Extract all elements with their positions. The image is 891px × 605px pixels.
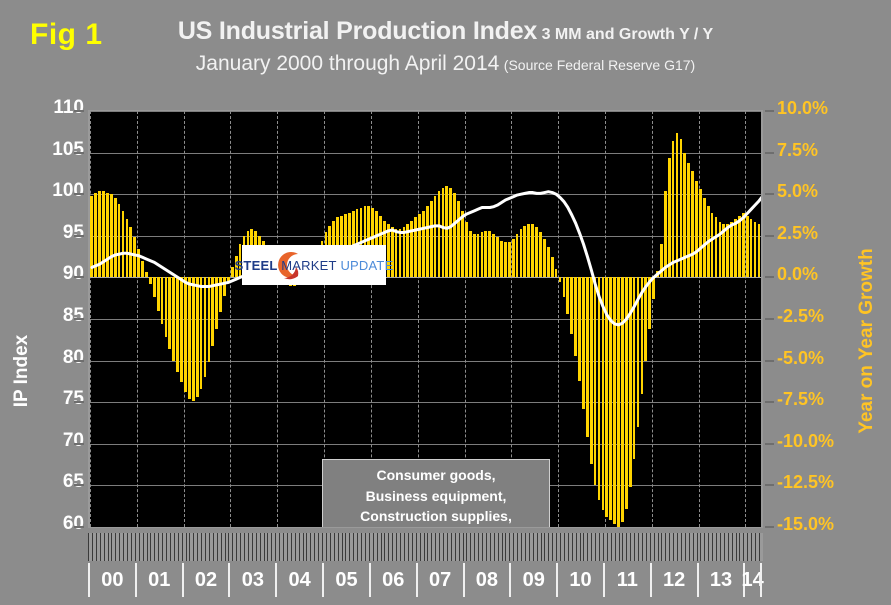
month-tick — [443, 533, 444, 561]
x-axis-month-ticks — [88, 533, 763, 561]
chart-title: US Industrial Production Index 3 MM and … — [0, 17, 891, 46]
month-tick — [150, 533, 151, 561]
annotation-line: Business supplies, — [373, 526, 500, 528]
month-tick — [490, 533, 491, 561]
left-axis-tick — [74, 235, 84, 237]
month-tick — [209, 533, 210, 561]
month-tick — [654, 533, 655, 561]
right-axis-tick-label: 5.0% — [777, 181, 818, 202]
month-tick — [326, 533, 327, 561]
month-tick — [213, 533, 214, 561]
month-tick — [743, 533, 744, 561]
month-tick — [131, 533, 132, 561]
month-tick — [505, 533, 506, 561]
month-tick — [693, 533, 694, 561]
month-tick — [439, 533, 440, 561]
month-tick — [377, 533, 378, 561]
month-tick — [420, 533, 421, 561]
month-tick — [260, 533, 261, 561]
month-tick — [427, 533, 428, 561]
month-tick — [154, 533, 155, 561]
right-axis-tick-label: -15.0% — [777, 514, 834, 535]
year-label-03: 03 — [228, 563, 275, 597]
month-tick — [334, 533, 335, 561]
month-tick — [759, 533, 760, 561]
right-axis-tick-label: -2.5% — [777, 306, 824, 327]
month-tick — [170, 533, 171, 561]
month-tick — [201, 533, 202, 561]
month-tick — [322, 533, 323, 561]
month-tick — [357, 533, 358, 561]
chart-subtitle-source: (Source Federal Reserve G17) — [504, 57, 695, 73]
chart-subtitle: January 2000 through April 2014 (Source … — [0, 52, 891, 76]
month-tick — [303, 533, 304, 561]
month-tick — [630, 533, 631, 561]
month-tick — [451, 533, 452, 561]
bar — [761, 224, 763, 277]
right-axis-tick-label: 7.5% — [777, 140, 818, 161]
month-tick — [466, 533, 467, 561]
month-tick — [225, 533, 226, 561]
month-tick — [236, 533, 237, 561]
month-tick — [474, 533, 475, 561]
logo-part-steel: STEEL — [235, 258, 278, 273]
month-tick — [591, 533, 592, 561]
month-tick — [595, 533, 596, 561]
month-tick — [174, 533, 175, 561]
month-tick — [533, 533, 534, 561]
left-axis-tick-label: 70 — [38, 430, 84, 452]
month-tick — [353, 533, 354, 561]
month-tick — [345, 533, 346, 561]
month-tick — [564, 533, 565, 561]
month-tick — [459, 533, 460, 561]
month-tick — [626, 533, 627, 561]
year-label-11: 11 — [603, 563, 650, 597]
right-axis-tick — [765, 193, 774, 195]
month-tick — [728, 533, 729, 561]
left-axis-tick — [74, 110, 84, 112]
month-tick — [661, 533, 662, 561]
year-label-00: 00 — [88, 563, 135, 597]
month-tick — [486, 533, 487, 561]
month-tick — [275, 533, 276, 561]
month-tick — [552, 533, 553, 561]
month-tick — [650, 533, 651, 561]
month-tick — [228, 533, 229, 561]
month-tick — [587, 533, 588, 561]
month-tick — [435, 533, 436, 561]
month-tick — [193, 533, 194, 561]
left-axis-title: IP Index — [11, 311, 33, 431]
right-axis-tick-label: 2.5% — [777, 223, 818, 244]
plot-area: STEEL MARKET UPDATE Consumer goods,Busin… — [88, 110, 763, 528]
month-tick — [400, 533, 401, 561]
month-tick — [548, 533, 549, 561]
month-tick — [509, 533, 510, 561]
month-tick — [314, 533, 315, 561]
month-tick — [381, 533, 382, 561]
left-axis-tick-label: 65 — [38, 471, 84, 493]
month-tick — [119, 533, 120, 561]
year-label-09: 09 — [509, 563, 556, 597]
month-tick — [318, 533, 319, 561]
month-tick — [365, 533, 366, 561]
year-label-01: 01 — [135, 563, 182, 597]
month-tick — [431, 533, 432, 561]
month-tick — [747, 533, 748, 561]
annotation-box: Consumer goods,Business equipment,Constr… — [322, 459, 550, 528]
month-tick — [396, 533, 397, 561]
month-tick — [502, 533, 503, 561]
month-tick — [724, 533, 725, 561]
month-tick — [704, 533, 705, 561]
month-tick — [330, 533, 331, 561]
year-label-10: 10 — [556, 563, 603, 597]
month-tick — [221, 533, 222, 561]
year-label-04: 04 — [275, 563, 322, 597]
month-tick — [158, 533, 159, 561]
chart-title-sub: 3 MM and Growth Y / Y — [542, 26, 714, 43]
month-tick — [264, 533, 265, 561]
month-tick — [583, 533, 584, 561]
month-tick — [521, 533, 522, 561]
right-axis-title: Year on Year Growth — [856, 226, 878, 456]
chart-header: Fig 1 US Industrial Production Index 3 M… — [0, 0, 891, 92]
month-tick — [186, 533, 187, 561]
month-tick — [463, 533, 464, 561]
month-tick — [373, 533, 374, 561]
month-tick — [108, 533, 109, 561]
month-tick — [712, 533, 713, 561]
month-tick — [279, 533, 280, 561]
month-tick — [482, 533, 483, 561]
left-axis-tick — [74, 526, 84, 528]
right-axis-tick — [765, 276, 774, 278]
month-tick — [342, 533, 343, 561]
left-axis-tick-label: 75 — [38, 388, 84, 410]
left-axis-tick — [74, 276, 84, 278]
month-tick — [115, 533, 116, 561]
month-tick — [295, 533, 296, 561]
month-tick — [424, 533, 425, 561]
month-tick — [634, 533, 635, 561]
month-tick — [541, 533, 542, 561]
month-tick — [751, 533, 752, 561]
logo-part-market: MARKET — [281, 258, 336, 273]
year-label-12: 12 — [650, 563, 697, 597]
chart-subtitle-main: January 2000 through April 2014 — [196, 52, 500, 75]
right-axis-tick-label: -10.0% — [777, 431, 834, 452]
month-tick — [182, 533, 183, 561]
annotation-line: Construction supplies, — [360, 506, 512, 526]
year-label-08: 08 — [463, 563, 510, 597]
left-axis-tick — [74, 443, 84, 445]
left-axis-tick — [74, 484, 84, 486]
month-tick — [271, 533, 272, 561]
right-axis-tick — [765, 443, 774, 445]
month-tick — [700, 533, 701, 561]
right-axis-tick-label: -5.0% — [777, 348, 824, 369]
month-tick — [256, 533, 257, 561]
month-tick — [658, 533, 659, 561]
right-axis-tick — [765, 110, 774, 112]
month-tick — [478, 533, 479, 561]
month-tick — [244, 533, 245, 561]
month-tick — [603, 533, 604, 561]
month-tick — [646, 533, 647, 561]
month-tick — [166, 533, 167, 561]
left-axis-tick-label: 95 — [38, 222, 84, 244]
left-axis-tick-label: 80 — [38, 347, 84, 369]
right-axis-tick-label: 0.0% — [777, 264, 818, 285]
month-tick — [388, 533, 389, 561]
month-tick — [572, 533, 573, 561]
month-tick — [135, 533, 136, 561]
month-tick — [310, 533, 311, 561]
month-tick — [689, 533, 690, 561]
month-tick — [178, 533, 179, 561]
right-axis-tick — [765, 360, 774, 362]
gridline-horizontal — [90, 527, 761, 528]
month-tick — [197, 533, 198, 561]
month-tick — [755, 533, 756, 561]
left-axis-tick-label: 85 — [38, 305, 84, 327]
right-axis-tick — [765, 526, 774, 528]
month-tick — [517, 533, 518, 561]
right-axis-tick — [765, 401, 774, 403]
right-axis-tick — [765, 152, 774, 154]
left-axis-tick-label: 60 — [38, 513, 84, 535]
month-tick — [732, 533, 733, 561]
month-tick — [96, 533, 97, 561]
x-axis-year-labels: 000102030405060708091011121314 — [88, 563, 763, 597]
month-tick — [139, 533, 140, 561]
month-tick — [404, 533, 405, 561]
year-label-05: 05 — [322, 563, 369, 597]
month-tick — [494, 533, 495, 561]
month-tick — [338, 533, 339, 561]
month-tick — [697, 533, 698, 561]
month-tick — [669, 533, 670, 561]
month-tick — [513, 533, 514, 561]
month-tick — [100, 533, 101, 561]
month-tick — [580, 533, 581, 561]
month-tick — [611, 533, 612, 561]
chart-title-main: US Industrial Production Index — [178, 17, 537, 45]
right-axis-tick-label: -7.5% — [777, 389, 824, 410]
left-axis-tick-label: 100 — [38, 180, 84, 202]
month-tick — [498, 533, 499, 561]
month-tick — [576, 533, 577, 561]
annotation-line: Consumer goods, — [376, 465, 495, 485]
month-tick — [665, 533, 666, 561]
month-tick — [615, 533, 616, 561]
right-axis-tick — [765, 318, 774, 320]
logo-part-update: UPDATE — [340, 258, 393, 273]
left-axis-tick-label: 90 — [38, 263, 84, 285]
month-tick — [104, 533, 105, 561]
month-tick — [217, 533, 218, 561]
month-tick — [392, 533, 393, 561]
month-tick — [384, 533, 385, 561]
right-axis-tick — [765, 484, 774, 486]
month-tick — [369, 533, 370, 561]
month-tick — [252, 533, 253, 561]
month-tick — [677, 533, 678, 561]
month-tick — [455, 533, 456, 561]
steel-market-update-logo: STEEL MARKET UPDATE — [242, 245, 386, 285]
month-tick — [619, 533, 620, 561]
month-tick — [287, 533, 288, 561]
year-label-07: 07 — [416, 563, 463, 597]
annotation-line: Business equipment, — [366, 486, 507, 506]
month-tick — [240, 533, 241, 561]
left-axis-tick-label: 105 — [38, 139, 84, 161]
month-tick — [361, 533, 362, 561]
left-axis-tick-label: 110 — [38, 97, 84, 119]
month-tick — [111, 533, 112, 561]
month-tick — [685, 533, 686, 561]
month-tick — [412, 533, 413, 561]
month-tick — [88, 533, 89, 561]
year-label-13: 13 — [697, 563, 744, 597]
month-tick — [92, 533, 93, 561]
month-tick — [638, 533, 639, 561]
month-tick — [299, 533, 300, 561]
left-axis-tick — [74, 318, 84, 320]
month-tick — [537, 533, 538, 561]
month-tick — [349, 533, 350, 561]
left-axis-tick — [74, 193, 84, 195]
month-tick — [232, 533, 233, 561]
month-tick — [599, 533, 600, 561]
month-tick — [708, 533, 709, 561]
year-band-endcap — [760, 563, 762, 597]
right-axis-tick-label: -12.5% — [777, 472, 834, 493]
month-tick — [470, 533, 471, 561]
left-axis: 6065707580859095100105110 — [20, 0, 84, 605]
month-tick — [408, 533, 409, 561]
logo-text: STEEL MARKET UPDATE — [235, 258, 394, 273]
month-tick — [143, 533, 144, 561]
month-tick — [681, 533, 682, 561]
year-label-14: 14 — [743, 563, 759, 597]
month-tick — [560, 533, 561, 561]
month-tick — [189, 533, 190, 561]
year-label-02: 02 — [182, 563, 229, 597]
left-axis-tick — [74, 360, 84, 362]
month-tick — [736, 533, 737, 561]
left-axis-tick — [74, 152, 84, 154]
month-tick — [205, 533, 206, 561]
year-label-06: 06 — [369, 563, 416, 597]
month-tick — [739, 533, 740, 561]
month-tick — [716, 533, 717, 561]
month-tick — [720, 533, 721, 561]
month-tick — [556, 533, 557, 561]
month-tick — [607, 533, 608, 561]
left-axis-tick — [74, 401, 84, 403]
month-tick — [568, 533, 569, 561]
month-tick — [529, 533, 530, 561]
right-axis-tick — [765, 235, 774, 237]
month-tick — [123, 533, 124, 561]
month-tick — [283, 533, 284, 561]
month-tick — [291, 533, 292, 561]
month-tick — [267, 533, 268, 561]
month-tick — [622, 533, 623, 561]
month-tick — [525, 533, 526, 561]
month-tick — [147, 533, 148, 561]
month-tick — [306, 533, 307, 561]
month-tick — [248, 533, 249, 561]
month-tick — [127, 533, 128, 561]
right-axis-tick-label: 10.0% — [777, 98, 828, 119]
month-tick — [416, 533, 417, 561]
month-tick — [673, 533, 674, 561]
month-tick — [642, 533, 643, 561]
month-tick — [447, 533, 448, 561]
month-tick — [544, 533, 545, 561]
month-tick — [162, 533, 163, 561]
